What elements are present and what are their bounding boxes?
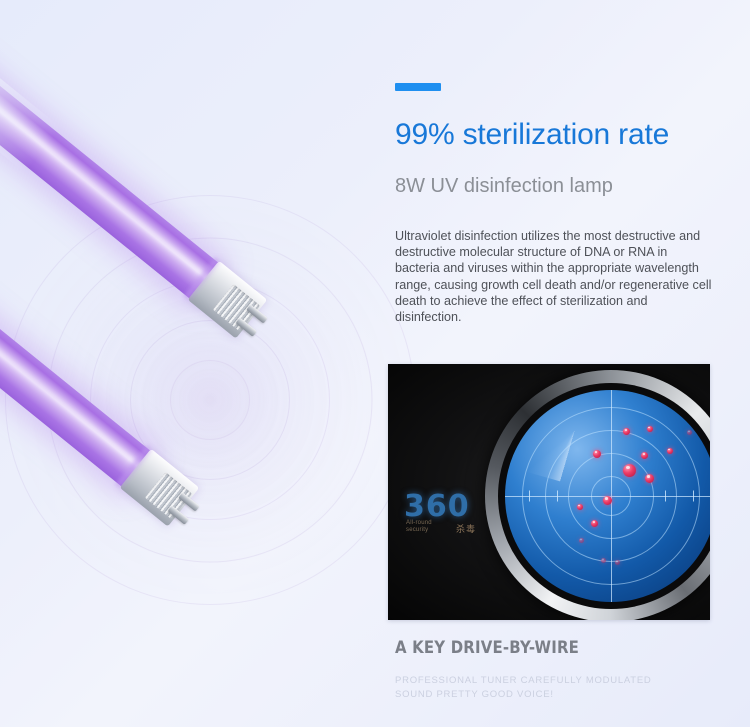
lamp-glass-tube bbox=[0, 57, 221, 300]
product-photo: 360 All-round security 杀毒 bbox=[388, 364, 710, 620]
logo-subtitle-en: All-round security bbox=[406, 520, 452, 533]
radar-blip bbox=[667, 448, 673, 454]
page-title: 99% sterilization rate bbox=[395, 118, 735, 152]
caption-title: A KEY DRIVE-BY-WIRE bbox=[395, 638, 579, 658]
radar-screen bbox=[505, 390, 710, 602]
radar-crosshair-vertical bbox=[611, 390, 612, 602]
caption-subtitle: PROFESSIONAL TUNER CAREFULLY MODULATED S… bbox=[395, 674, 652, 702]
radar-blip bbox=[623, 428, 630, 435]
radar-blip bbox=[647, 426, 653, 432]
radar-tick bbox=[665, 491, 666, 502]
radar-display bbox=[485, 370, 710, 620]
radar-tick bbox=[529, 491, 530, 502]
radar-blip bbox=[687, 430, 692, 435]
lamp-glass-tube bbox=[0, 245, 153, 488]
radar-blip bbox=[603, 496, 612, 505]
radar-blip bbox=[645, 474, 654, 483]
radar-blip bbox=[623, 464, 636, 477]
description-paragraph: Ultraviolet disinfection utilizes the mo… bbox=[395, 228, 715, 325]
radar-blip bbox=[577, 504, 583, 510]
logo-subtitle-cn: 杀毒 bbox=[456, 522, 476, 535]
product-promo-page: 99% sterilization rate 8W UV disinfectio… bbox=[0, 0, 750, 727]
radar-tick bbox=[693, 491, 694, 502]
logo-number: 360 bbox=[404, 492, 490, 522]
page-subtitle: 8W UV disinfection lamp bbox=[395, 175, 735, 198]
caption-subtitle-line-1: PROFESSIONAL TUNER CAREFULLY MODULATED bbox=[395, 674, 652, 688]
caption-subtitle-line-2: SOUND PRETTY GOOD VOICE! bbox=[395, 688, 652, 702]
radar-blip bbox=[591, 520, 598, 527]
radar-tick bbox=[557, 491, 558, 502]
accent-bar bbox=[395, 83, 441, 91]
radar-blip bbox=[641, 452, 648, 459]
ripple-ring bbox=[170, 360, 250, 440]
radar-blip bbox=[615, 560, 620, 565]
brand-logo-360: 360 All-round security 杀毒 bbox=[404, 492, 490, 522]
radar-blip bbox=[593, 450, 601, 458]
radar-blip bbox=[579, 538, 584, 543]
radar-blip bbox=[601, 558, 606, 563]
